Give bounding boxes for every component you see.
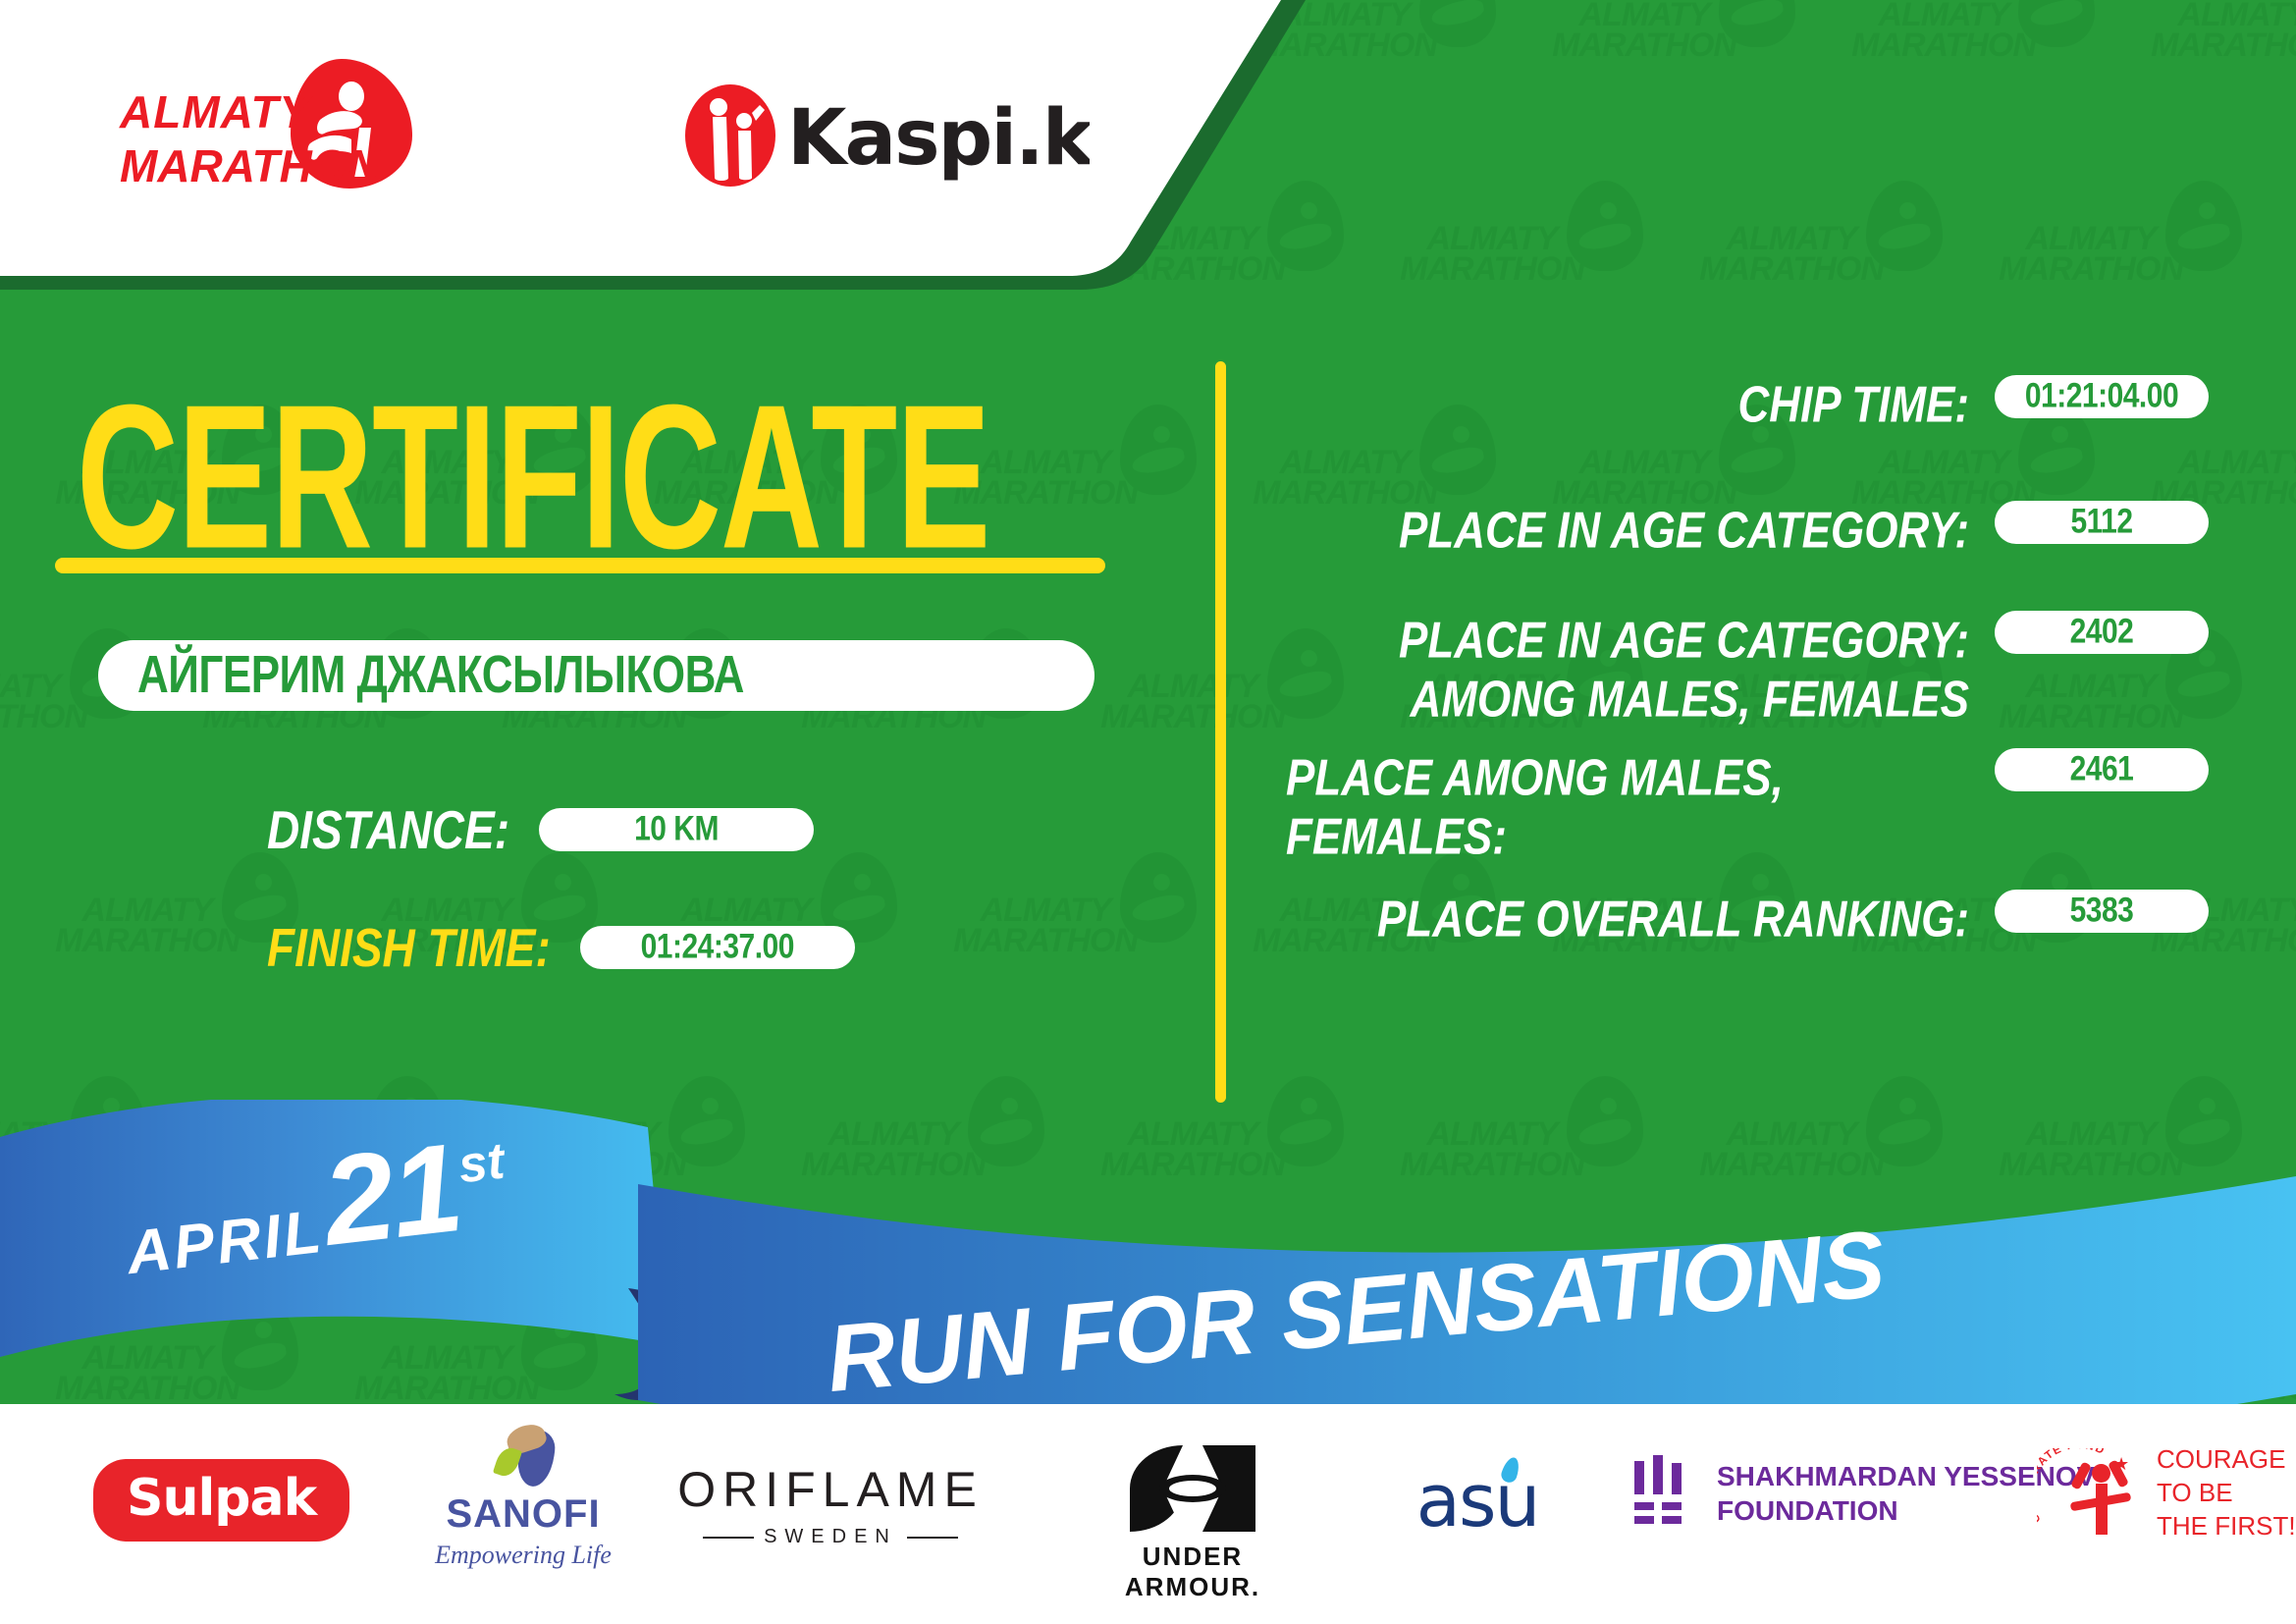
yessenov-wordmark-line2: FOUNDATION <box>1717 1495 1898 1526</box>
participant-name-value: АЙГЕРИМ ДЖАКСЫЛЫКОВА <box>137 646 744 706</box>
watermark-line2: MARATHON <box>2151 27 2296 64</box>
almaty-marathon-drop-icon <box>1120 405 1197 495</box>
watermark-tile: ALMATYMARATHON <box>2096 0 2296 62</box>
watermark-line1: ALMATY <box>980 892 1110 929</box>
sponsor-logo-oriflame: ORIFLAME SWEDEN <box>693 1461 968 1548</box>
watermark-tile: ALMATYMARATHON <box>0 895 294 957</box>
oriflame-wordmark: ORIFLAME <box>677 1461 984 1518</box>
oriflame-tagline-row: SWEDEN <box>703 1526 958 1548</box>
oriflame-tagline: SWEDEN <box>764 1526 897 1548</box>
chip-time-label: CHIP TIME: <box>1286 373 1969 435</box>
result-row-place-overall: PLACE OVERALL RANKING: 5383 <box>1286 888 2209 947</box>
under-armour-wordmark: UNDER ARMOUR. <box>1090 1542 1296 1602</box>
place-age-category-among-label-line2: AMONG MALES, FEMALES <box>1410 672 1969 729</box>
watermark-line1: ALMATY <box>81 892 212 929</box>
asu-wordmark-text: asu <box>1416 1459 1539 1543</box>
distance-value-pill: 10 KM <box>539 808 814 851</box>
watermark-tile: ALMATYMARATHON <box>1497 0 1791 62</box>
distance-row: DISTANCE: 10 KM <box>267 803 814 856</box>
place-among-males-females-label-line1: PLACE AMONG MALES, <box>1286 750 1784 807</box>
watermark-tile: ALMATYMARATHON <box>2243 672 2296 733</box>
sponsor-strip: Sulpak SANOFI Empowering Life ORIFLAME S… <box>0 1404 2296 1624</box>
certificate-page: ALMATYMARATHONALMATYMARATHONALMATYMARATH… <box>0 0 2296 1624</box>
sponsor-logo-asu: asu <box>1379 1459 1575 1543</box>
watermark-line1: ALMATY <box>980 444 1110 481</box>
vertical-divider <box>1215 361 1226 1103</box>
watermark-tile: ALMATYMARATHON <box>2243 224 2296 286</box>
sponsor-logo-yessenov-foundation: SHAKHMARDAN YESSENOV FOUNDATION <box>1634 1455 2095 1532</box>
almaty-marathon-logo: ALMATY MARATHON <box>118 51 442 189</box>
place-overall-value: 5383 <box>2070 892 2134 931</box>
almaty-marathon-drop-icon <box>2165 181 2242 271</box>
watermark-line2: MARATHON <box>953 922 1138 959</box>
watermark-line1: ALMATY <box>2177 0 2296 33</box>
result-row-chip-time: CHIP TIME: 01:21:04.00 <box>1286 373 2209 432</box>
courage-fund-mark-icon: CORPORATE FUND ★ <box>2037 1444 2145 1543</box>
almaty-marathon-drop-icon <box>2018 0 2095 47</box>
title-underline <box>55 558 1105 573</box>
watermark-line1: ALMATY <box>1726 220 1856 257</box>
event-day: 21 <box>316 1117 467 1272</box>
asu-wordmark: asu <box>1416 1459 1539 1543</box>
sanofi-tagline: Empowering Life <box>435 1541 612 1570</box>
watermark-line1: ALMATY <box>1878 0 2008 33</box>
yessenov-mark-icon <box>1634 1455 1693 1532</box>
sponsor-logo-sulpak: Sulpak <box>93 1459 349 1542</box>
watermark-line2: MARATHON <box>0 698 87 735</box>
oriflame-rule-right <box>907 1537 958 1539</box>
watermark-tile: ALMATYMARATHON <box>898 895 1193 957</box>
sponsor-logo-courage-fund: CORPORATE FUND ★ COURAGE TO BE THE FIRST… <box>2037 1443 2296 1543</box>
chip-time-value: 01:21:04.00 <box>2025 377 2178 416</box>
results-list: CHIP TIME: 01:21:04.00 PLACE IN AGE CATE… <box>1286 373 2209 988</box>
place-age-category-value-pill: 5112 <box>1995 501 2209 544</box>
sponsor-logo-under-armour: UNDER ARMOUR. <box>1090 1445 1296 1602</box>
finish-time-row: FINISH TIME: 01:24:37.00 <box>267 921 855 974</box>
place-overall-value-pill: 5383 <box>1995 890 2209 933</box>
courage-fund-figure-icon: ★ <box>2072 1454 2129 1539</box>
place-age-category-among-value-pill: 2402 <box>1995 611 2209 654</box>
watermark-tile: ALMATYMARATHON <box>1644 224 1939 286</box>
distance-label: DISTANCE: <box>267 798 509 861</box>
almaty-marathon-drop-icon <box>1419 0 1496 47</box>
watermark-line1: ALMATY <box>2025 220 2156 257</box>
chip-time-value-pill: 01:21:04.00 <box>1995 375 2209 418</box>
distance-value: 10 KM <box>634 810 719 849</box>
almaty-marathon-drop-icon <box>1719 0 1795 47</box>
under-armour-mark-icon <box>1130 1445 1255 1532</box>
courage-fund-line2: TO BE <box>2157 1478 2233 1507</box>
almaty-logo-line1: ALMATY <box>119 86 314 137</box>
watermark-line1: ALMATY <box>0 668 61 705</box>
watermark-tile: ALMATYMARATHON <box>1944 224 2238 286</box>
participant-name-field: АЙГЕРИМ ДЖАКСЫЛЫКОВА <box>98 640 1095 711</box>
finish-time-value: 01:24:37.00 <box>641 928 794 967</box>
result-row-place-age-category: PLACE IN AGE CATEGORY: 5112 <box>1286 499 2209 558</box>
watermark-line2: MARATHON <box>1552 27 1736 64</box>
place-age-category-among-label: PLACE IN AGE CATEGORY: AMONG MALES, FEMA… <box>1286 609 1969 730</box>
watermark-line2: MARATHON <box>1699 250 1884 288</box>
place-among-males-females-value: 2461 <box>2070 750 2134 789</box>
place-age-category-value: 5112 <box>2070 503 2132 542</box>
kaspi-logo: Kaspi.kz <box>677 83 1090 187</box>
courage-fund-line3: THE FIRST! <box>2157 1511 2296 1541</box>
almaty-logo-line2: MARATHON <box>120 140 381 191</box>
page-title: CERTIFICATE <box>77 375 989 580</box>
watermark-line1: ALMATY <box>1578 0 1709 33</box>
sanofi-wordmark: SANOFI <box>446 1492 600 1537</box>
oriflame-rule-left <box>703 1537 754 1539</box>
result-row-place-age-category-among: PLACE IN AGE CATEGORY: AMONG MALES, FEMA… <box>1286 609 2209 711</box>
watermark-line2: MARATHON <box>1851 27 2036 64</box>
place-overall-label: PLACE OVERALL RANKING: <box>1286 888 1969 949</box>
sanofi-mark-icon <box>485 1426 561 1487</box>
almaty-marathon-drop-icon <box>1866 181 1943 271</box>
event-month: APRIL <box>124 1198 328 1287</box>
result-row-place-among-males-females: PLACE AMONG MALES, FEMALES: 2461 <box>1286 746 2209 848</box>
place-age-category-among-value: 2402 <box>2070 613 2134 652</box>
courage-fund-line1: COURAGE <box>2157 1444 2285 1474</box>
kaspi-logo-text: Kaspi.kz <box>787 94 1090 183</box>
watermark-line2: MARATHON <box>1999 250 2183 288</box>
event-day-suffix: st <box>455 1132 507 1194</box>
watermark-line2: MARATHON <box>1400 250 1584 288</box>
almaty-marathon-drop-icon <box>1120 852 1197 943</box>
watermark-tile: ALMATYMARATHON <box>1345 224 1639 286</box>
sulpak-wordmark: Sulpak <box>93 1459 349 1542</box>
watermark-tile: ALMATYMARATHON <box>1796 0 2091 62</box>
almaty-marathon-drop-icon <box>1567 181 1643 271</box>
sponsor-logo-sanofi: SANOFI Empowering Life <box>410 1426 636 1570</box>
finish-time-value-pill: 01:24:37.00 <box>580 926 855 969</box>
watermark-line2: MARATHON <box>55 922 240 959</box>
place-among-males-females-label-line2: FEMALES: <box>1286 809 1507 866</box>
watermark-line2: MARATHON <box>1100 698 1285 735</box>
courage-fund-wordmark: COURAGE TO BE THE FIRST! <box>2157 1443 2296 1543</box>
watermark-line1: ALMATY <box>1426 220 1557 257</box>
finish-time-label: FINISH TIME: <box>267 916 551 979</box>
place-among-males-females-label: PLACE AMONG MALES, FEMALES: <box>1286 746 1969 867</box>
place-age-category-among-label-line1: PLACE IN AGE CATEGORY: <box>1399 613 1969 670</box>
place-among-males-females-value-pill: 2461 <box>1995 748 2209 791</box>
watermark-line1: ALMATY <box>1127 668 1257 705</box>
place-age-category-label: PLACE IN AGE CATEGORY: <box>1286 499 1969 561</box>
